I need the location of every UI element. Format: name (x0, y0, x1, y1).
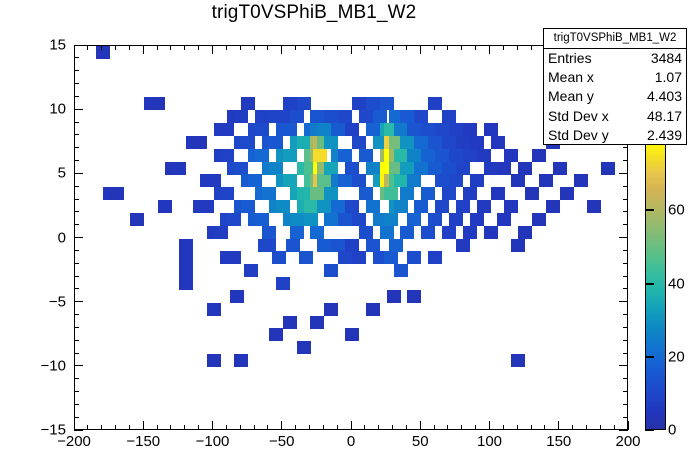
x-axis-tick (101, 425, 102, 430)
x-axis-tick (447, 425, 448, 430)
x-axis-tick-top (170, 45, 171, 50)
y-axis-tick-right (619, 173, 628, 174)
y-axis-tick-right (623, 263, 628, 264)
heatmap-bin (220, 187, 234, 200)
heatmap-bin (553, 162, 567, 175)
x-axis-tick-top (87, 45, 88, 50)
heatmap-bin (414, 136, 428, 149)
heatmap-bin (400, 187, 414, 200)
heatmap-bin (241, 200, 255, 213)
y-axis-tick (74, 96, 79, 97)
x-axis-tick-top (461, 45, 462, 50)
heatmap-bin (442, 136, 456, 149)
heatmap-bin (574, 174, 588, 187)
x-axis-tick (323, 425, 324, 430)
heatmap-bin (244, 264, 258, 277)
y-axis-tick (74, 224, 79, 225)
x-axis-tick (572, 425, 573, 430)
x-axis-label: 150 (546, 433, 571, 450)
y-axis-tick (74, 276, 79, 277)
y-axis-tick-right (623, 224, 628, 225)
heatmap-bin (428, 251, 442, 264)
y-axis-tick (74, 288, 79, 289)
x-axis-tick (614, 425, 615, 430)
heatmap-bin (179, 251, 193, 264)
palette-tick (645, 283, 654, 285)
heatmap-bin (421, 187, 435, 200)
heatmap-bin (276, 277, 290, 290)
x-axis-tick-top (434, 45, 435, 50)
heatmap-bin (463, 149, 477, 162)
heatmap-bin (227, 213, 241, 226)
y-axis-label: 0 (18, 229, 66, 246)
heatmap-bin (158, 200, 172, 213)
heatmap-bin (313, 149, 327, 162)
heatmap-bin (130, 213, 144, 226)
y-axis-tick (74, 353, 79, 354)
palette-tick (645, 209, 654, 211)
heatmap-bin (407, 174, 421, 187)
x-axis-tick (267, 425, 268, 430)
x-axis-tick (392, 425, 393, 430)
heatmap-bin (470, 213, 484, 226)
heatmap-bin (290, 213, 304, 226)
y-axis-tick-right (623, 276, 628, 277)
stats-row: Std Dev y2.439 (544, 126, 686, 145)
y-axis-tick-right (623, 404, 628, 405)
heatmap-bin (407, 149, 421, 162)
heatmap-bin (317, 123, 331, 136)
y-axis-tick-right (623, 417, 628, 418)
heatmap-bin (601, 162, 615, 175)
heatmap-bin (400, 162, 414, 175)
heatmap-bin (442, 187, 456, 200)
heatmap-bin (366, 239, 380, 252)
palette-tick (645, 356, 654, 358)
x-axis-tick-top (240, 45, 241, 50)
y-axis-tick (74, 301, 83, 302)
heatmap-bin (387, 290, 401, 303)
y-axis-tick-right (619, 301, 628, 302)
heatmap-bin (449, 174, 463, 187)
stats-row: Entries3484 (544, 49, 686, 68)
heatmap-bin (421, 123, 435, 136)
heatmap-bin (234, 110, 248, 123)
heatmap-bin (338, 174, 352, 187)
heatmap-bin (511, 239, 525, 252)
stats-row-name: Std Dev x (548, 107, 609, 126)
heatmap-bin (400, 110, 414, 123)
heatmap-bin (532, 149, 546, 162)
heatmap-bin (220, 123, 234, 136)
heatmap-bin (435, 200, 449, 213)
y-axis-tick (74, 134, 79, 135)
heatmap-bin (497, 213, 511, 226)
heatmap-bin (96, 46, 110, 59)
heatmap-bin (248, 174, 262, 187)
x-axis-label: 100 (477, 433, 502, 450)
y-axis-tick (74, 237, 83, 238)
heatmap-bin (241, 97, 255, 110)
heatmap-bin (324, 187, 338, 200)
x-axis-tick (212, 421, 213, 430)
heatmap-bin (394, 123, 408, 136)
y-axis-tick (74, 340, 79, 341)
x-axis-tick-top (351, 45, 352, 54)
x-axis-label: 0 (347, 433, 355, 450)
heatmap-bin (477, 149, 491, 162)
stats-row-value: 48.17 (647, 107, 682, 126)
heatmap-bin (234, 162, 248, 175)
heatmap-bin (317, 174, 331, 187)
x-axis-tick-top (101, 45, 102, 50)
y-axis-tick (74, 109, 83, 110)
heatmap-bin (366, 200, 380, 213)
heatmap-bin (324, 264, 338, 277)
heatmap-bin (262, 226, 276, 239)
x-axis-tick-top (364, 45, 365, 50)
y-axis-tick-right (623, 186, 628, 187)
x-axis-tick (309, 425, 310, 430)
x-axis-tick-top (323, 45, 324, 50)
stats-row: Mean y4.403 (544, 87, 686, 106)
heatmap-bin (179, 264, 193, 277)
heatmap-bin (518, 162, 532, 175)
heatmap-bin (456, 162, 470, 175)
y-axis-label: −15 (18, 422, 66, 439)
stats-row-value: 3484 (651, 49, 682, 68)
x-axis-tick (420, 421, 421, 430)
x-axis-tick (489, 421, 490, 430)
heatmap-bin (359, 149, 373, 162)
heatmap-bin (435, 174, 449, 187)
palette-tick-label: 20 (668, 348, 685, 365)
heatmap-bin (359, 187, 373, 200)
heatmap-bin (504, 200, 518, 213)
y-axis-tick (74, 160, 79, 161)
x-axis-tick (475, 425, 476, 430)
x-axis-tick (129, 425, 130, 430)
heatmap-bin (297, 187, 311, 200)
x-axis-tick-top (143, 45, 144, 54)
y-axis-tick (74, 45, 83, 46)
heatmap-bin (345, 328, 359, 341)
heatmap-bin (179, 277, 193, 290)
heatmap-bin (297, 341, 311, 354)
heatmap-bin (463, 123, 477, 136)
y-axis-label: 15 (18, 37, 66, 54)
heatmap-bin (283, 316, 297, 329)
heatmap-bin (497, 162, 511, 175)
heatmap-bin (414, 110, 428, 123)
heatmap-bin (297, 97, 311, 110)
heatmap-bin (317, 200, 331, 213)
heatmap-bin (525, 187, 539, 200)
heatmap-bin (338, 149, 352, 162)
x-axis-tick (351, 421, 352, 430)
y-axis-tick-right (619, 237, 628, 238)
y-axis-tick (74, 378, 79, 379)
stats-box-title: trigT0VSPhiB_MB1_W2 (544, 29, 686, 49)
heatmap-bin (394, 200, 408, 213)
heatmap-bin (477, 200, 491, 213)
y-axis-tick (74, 327, 79, 328)
y-axis-tick (74, 404, 79, 405)
y-axis-tick (74, 186, 79, 187)
y-axis-tick (74, 173, 83, 174)
heatmap-bin (262, 239, 276, 252)
heatmap-bin (435, 123, 449, 136)
y-axis-tick (74, 199, 79, 200)
heatmap-bin (442, 226, 456, 239)
heatmap-bin (290, 226, 304, 239)
x-axis-tick-top (489, 45, 490, 54)
heatmap-bin (491, 187, 505, 200)
x-axis-tick-top (198, 45, 199, 50)
stats-row-value: 2.439 (647, 126, 682, 145)
heatmap-bin (352, 213, 366, 226)
heatmap-bin (463, 226, 477, 239)
x-axis-tick-top (378, 45, 379, 50)
x-axis-tick-top (184, 45, 185, 50)
heatmap-bin (456, 136, 470, 149)
heatmap-bin (373, 110, 387, 123)
stats-row-value: 4.403 (647, 87, 682, 106)
heatmap-bin (414, 162, 428, 175)
x-axis-tick (240, 425, 241, 430)
heatmap-bin (255, 123, 269, 136)
x-axis-tick-top (531, 45, 532, 50)
heatmap-bin (283, 123, 297, 136)
heatmap-bin (269, 162, 283, 175)
y-axis-tick (74, 70, 79, 71)
x-axis-tick (461, 425, 462, 430)
x-axis-tick-top (406, 45, 407, 50)
heatmap-bin (338, 213, 352, 226)
y-axis-tick (74, 430, 83, 431)
x-axis-tick (157, 425, 158, 430)
heatmap-bin (456, 200, 470, 213)
x-axis-tick-top (447, 45, 448, 50)
x-axis-tick-top (226, 45, 227, 50)
x-axis-tick (434, 425, 435, 430)
heatmap-bin (110, 187, 124, 200)
heatmap-bin (384, 213, 398, 226)
heatmap-bin (352, 174, 366, 187)
heatmap-bin (290, 110, 304, 123)
x-axis-label: −100 (196, 433, 230, 450)
x-axis-tick (558, 421, 559, 430)
heatmap-bin (449, 213, 463, 226)
heatmap-bin (200, 200, 214, 213)
y-axis-label: −10 (18, 357, 66, 374)
x-axis-tick-top (115, 45, 116, 50)
heatmap-bin (366, 162, 380, 175)
heatmap-bin (299, 251, 313, 264)
heatmap-bin (345, 123, 359, 136)
heatmap-bin (394, 264, 408, 277)
heatmap-bin (310, 226, 324, 239)
page-title: trigT0VSPhiB_MB1_W2 (0, 2, 628, 24)
heatmap-bin (435, 149, 449, 162)
x-axis-tick-top (309, 45, 310, 50)
heatmap-bin (345, 239, 359, 252)
y-axis-label: −5 (18, 293, 66, 310)
heatmap-bin (207, 354, 221, 367)
heatmap-bin (414, 200, 428, 213)
x-axis-tick (254, 425, 255, 430)
heatmap-bin (214, 226, 228, 239)
heatmap-bin (587, 200, 601, 213)
heatmap-bin (207, 303, 221, 316)
x-axis-label: 50 (412, 433, 429, 450)
y-axis-tick (74, 147, 79, 148)
x-axis-tick-top (212, 45, 213, 54)
y-axis-tick-right (623, 250, 628, 251)
y-axis-tick-right (619, 430, 628, 431)
heatmap-bin (241, 136, 255, 149)
y-axis-tick (74, 365, 83, 366)
palette-tick (645, 429, 654, 431)
y-axis-tick-right (623, 391, 628, 392)
heatmap-bin (324, 162, 338, 175)
heatmap-bin (276, 110, 290, 123)
heatmap-bin (407, 213, 421, 226)
heatmap-bin (262, 187, 276, 200)
y-axis-tick-right (623, 199, 628, 200)
x-axis-tick-top (254, 45, 255, 50)
heatmap-bin (227, 251, 241, 264)
y-axis-tick (74, 314, 79, 315)
heatmap-bin (286, 239, 300, 252)
heatmap-bin (269, 136, 283, 149)
x-axis-tick-top (267, 45, 268, 50)
heatmap-bin (352, 251, 366, 264)
x-axis-tick (378, 425, 379, 430)
heatmap-bin (366, 303, 380, 316)
x-axis-tick-top (337, 45, 338, 50)
heatmap-bin (400, 226, 414, 239)
heatmap-bin (230, 290, 244, 303)
y-axis-label: 10 (18, 101, 66, 118)
heatmap-bin (449, 123, 463, 136)
y-axis-tick-right (623, 147, 628, 148)
y-axis-tick-right (623, 378, 628, 379)
heatmap-bin (234, 354, 248, 367)
stats-row-name: Std Dev y (548, 126, 609, 145)
heatmap-bin (151, 97, 165, 110)
x-axis-tick (337, 425, 338, 430)
x-axis-tick-top (517, 45, 518, 50)
x-axis-label: 200 (615, 433, 640, 450)
heatmap-bin (352, 136, 366, 149)
heatmap-bin (345, 162, 359, 175)
root-canvas: trigT0VSPhiB_MB1_W2 −200−150−100−5005010… (0, 0, 698, 476)
y-axis-tick (74, 57, 79, 58)
palette-tick-label: 60 (668, 202, 685, 219)
heatmap-bin (331, 123, 345, 136)
heatmap-bin (470, 174, 484, 187)
heatmap-bin (511, 174, 525, 187)
heatmap-bin (470, 136, 484, 149)
heatmap-bin (310, 316, 324, 329)
heatmap-bin (193, 136, 207, 149)
heatmap-bin (359, 110, 373, 123)
x-axis-tick (503, 425, 504, 430)
heatmap-bin (407, 290, 421, 303)
x-axis-tick (600, 425, 601, 430)
heatmap-bin (518, 226, 532, 239)
heatmap-bin (310, 110, 324, 123)
heatmap-bin (380, 226, 394, 239)
heatmap-bin (172, 162, 186, 175)
y-axis-tick (74, 417, 79, 418)
stats-box-rows: Entries3484Mean x1.07Mean y4.403Std Dev … (544, 49, 686, 145)
heatmap-bin (539, 174, 553, 187)
x-axis-tick-top (420, 45, 421, 54)
stats-row: Mean x1.07 (544, 68, 686, 87)
stats-row-name: Entries (548, 49, 592, 68)
x-axis-tick-top (475, 45, 476, 50)
x-axis-tick (198, 425, 199, 430)
heatmap-bin (384, 251, 398, 264)
heatmap-bin (345, 200, 359, 213)
heatmap-bin (394, 174, 408, 187)
x-axis-tick (517, 425, 518, 430)
heatmap-bin (366, 123, 380, 136)
heatmap-bin (255, 149, 269, 162)
y-axis-tick (74, 122, 79, 123)
heatmap-bin (484, 162, 498, 175)
heatmap-bin (220, 149, 234, 162)
heatmap-bin (324, 303, 338, 316)
heatmap-bin (428, 136, 442, 149)
heatmap-bin (442, 110, 456, 123)
y-axis-tick-right (623, 340, 628, 341)
heatmap-bin (532, 213, 546, 226)
y-axis-tick-right (623, 353, 628, 354)
heatmap-bin (511, 354, 525, 367)
y-axis-tick (74, 83, 79, 84)
heatmap-bin (442, 162, 456, 175)
x-axis-tick (295, 425, 296, 430)
y-axis-tick-right (623, 327, 628, 328)
x-axis-tick (544, 425, 545, 430)
y-axis-tick-right (623, 314, 628, 315)
x-axis-tick (281, 421, 282, 430)
x-axis-tick-top (129, 45, 130, 50)
x-axis-tick (170, 425, 171, 430)
heatmap-bin (331, 239, 345, 252)
heatmap-bin (297, 136, 311, 149)
palette-tick-label: 40 (668, 275, 685, 292)
heatmap-bin (324, 136, 338, 149)
palette-tick-label: 0 (668, 422, 676, 439)
heatmap-bin (463, 187, 477, 200)
heatmap-bin (207, 174, 221, 187)
stats-box[interactable]: trigT0VSPhiB_MB1_W2 Entries3484Mean x1.0… (543, 28, 687, 145)
heatmap-bin (421, 226, 435, 239)
heatmap-bin (384, 187, 398, 200)
heatmap-bin (400, 136, 414, 149)
heatmap-bin (428, 97, 442, 110)
x-axis-tick (364, 425, 365, 430)
stats-row-name: Mean y (548, 87, 594, 106)
heatmap-bin (352, 97, 366, 110)
heatmap-bin (310, 187, 324, 200)
stats-row-value: 1.07 (655, 68, 682, 87)
x-axis-tick-top (157, 45, 158, 50)
